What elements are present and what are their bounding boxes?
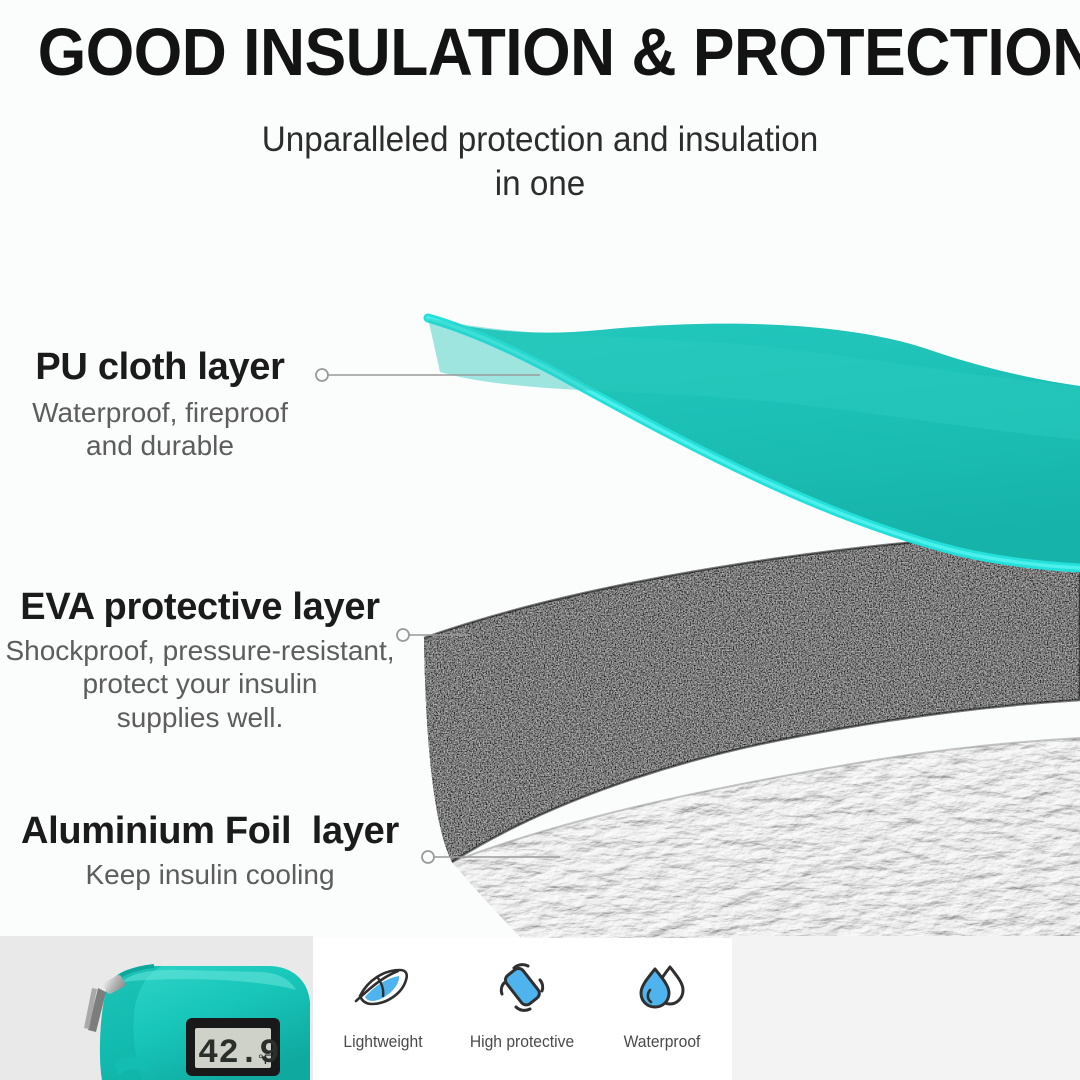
leader-line-pu <box>316 369 540 381</box>
feature-label: Waterproof <box>603 1032 721 1052</box>
temperature-unit: °F <box>258 1051 272 1067</box>
leaf-feather-icon <box>319 956 447 1018</box>
shockproof-case-icon <box>458 956 586 1018</box>
pu-cloth-sheet <box>428 318 1080 568</box>
callout-aluminium-foil-layer: Aluminium Foil layer Keep insulin coolin… <box>0 812 420 891</box>
product-photo-insulin-cooler-case: 42.9 °F <box>62 952 314 1080</box>
feature-label: Lightweight <box>324 1032 442 1052</box>
callout-pu-cloth-layer: PU cloth layer Waterproof, fireproof and… <box>0 348 320 463</box>
callout-eva-protective-layer: EVA protective layer Shockproof, pressur… <box>0 588 400 735</box>
callout-title: Aluminium Foil layer <box>0 812 420 852</box>
page-subtitle: Unparalleled protection and insulation i… <box>246 118 835 207</box>
feature-high-protective: High protective <box>458 956 586 1052</box>
water-droplet-icon <box>598 956 726 1018</box>
callout-title: EVA protective layer <box>0 588 400 628</box>
bottom-strip-right-background <box>732 936 1080 1080</box>
leader-line-eva <box>397 629 470 641</box>
eva-foam-sheet <box>424 531 1080 862</box>
feature-waterproof: Waterproof <box>598 956 726 1052</box>
feature-strip: Lightweight High protective <box>313 938 732 1080</box>
callout-description: Keep insulin cooling <box>0 858 420 892</box>
insulation-protection-infographic: GOOD INSULATION & PROTECTION Unparallele… <box>0 0 1080 1080</box>
feature-label: High protective <box>464 1032 582 1052</box>
callout-description: Waterproof, fireproof and durable <box>0 396 320 463</box>
leader-line-foil <box>422 851 560 863</box>
page-title: GOOD INSULATION & PROTECTION <box>38 14 1042 91</box>
callout-title: PU cloth layer <box>0 348 320 388</box>
callout-description: Shockproof, pressure-resistant, protect … <box>0 634 400 735</box>
feature-lightweight: Lightweight <box>319 956 447 1052</box>
temperature-display: 42.9 °F <box>186 1018 280 1076</box>
